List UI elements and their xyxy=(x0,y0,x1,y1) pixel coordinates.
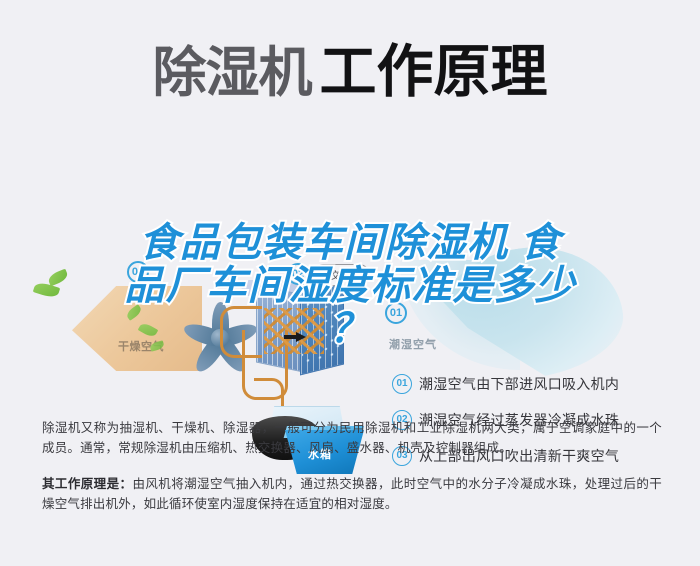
leaf-icon xyxy=(47,269,70,287)
dehumidifier-diagram: 干燥空气 xyxy=(0,120,700,405)
paragraph-2-lead: 其工作原理是： xyxy=(42,477,132,491)
infographic-page: 除湿机工作原理 干燥空气 xyxy=(0,0,700,566)
heat-exchanger-callout: 热交换器 xyxy=(312,264,370,286)
page-title: 除湿机工作原理 xyxy=(0,26,700,108)
flow-arrow-head-icon xyxy=(296,332,306,342)
paragraph-2: 其工作原理是：由风机将潮湿空气抽入机内，通过热交换器，此时空气中的水分子冷凝成水… xyxy=(42,474,662,514)
diagram-marker-03: 03 xyxy=(127,261,149,283)
page-title-secondary: 工作原理 xyxy=(320,40,548,104)
paragraph-1: 除湿机又称为抽湿机、干燥机、除湿器，一般可分为民用除湿机和工业除湿机两大类，属于… xyxy=(42,418,662,458)
paragraph-2-rest: 由风机将潮湿空气抽入机内，通过热交换器，此时空气中的水分子冷凝成水珠，处理过后的… xyxy=(42,477,662,511)
page-title-primary: 除湿机 xyxy=(153,43,312,103)
legend-item: 01 潮湿空气由下部进风口吸入机内 xyxy=(392,366,692,402)
humid-air-label: 潮湿空气 xyxy=(389,336,437,352)
copper-coil-bundle xyxy=(264,308,324,354)
legend-label: 潮湿空气由下部进风口吸入机内 xyxy=(419,374,619,394)
diagram-marker-01: 01 xyxy=(385,302,407,324)
article-body: 除湿机又称为抽湿机、干燥机、除湿器，一般可分为民用除湿机和工业除湿机两大类，属于… xyxy=(42,418,662,514)
diagram-marker-02: 02 xyxy=(287,263,309,285)
legend-number: 01 xyxy=(392,374,412,394)
